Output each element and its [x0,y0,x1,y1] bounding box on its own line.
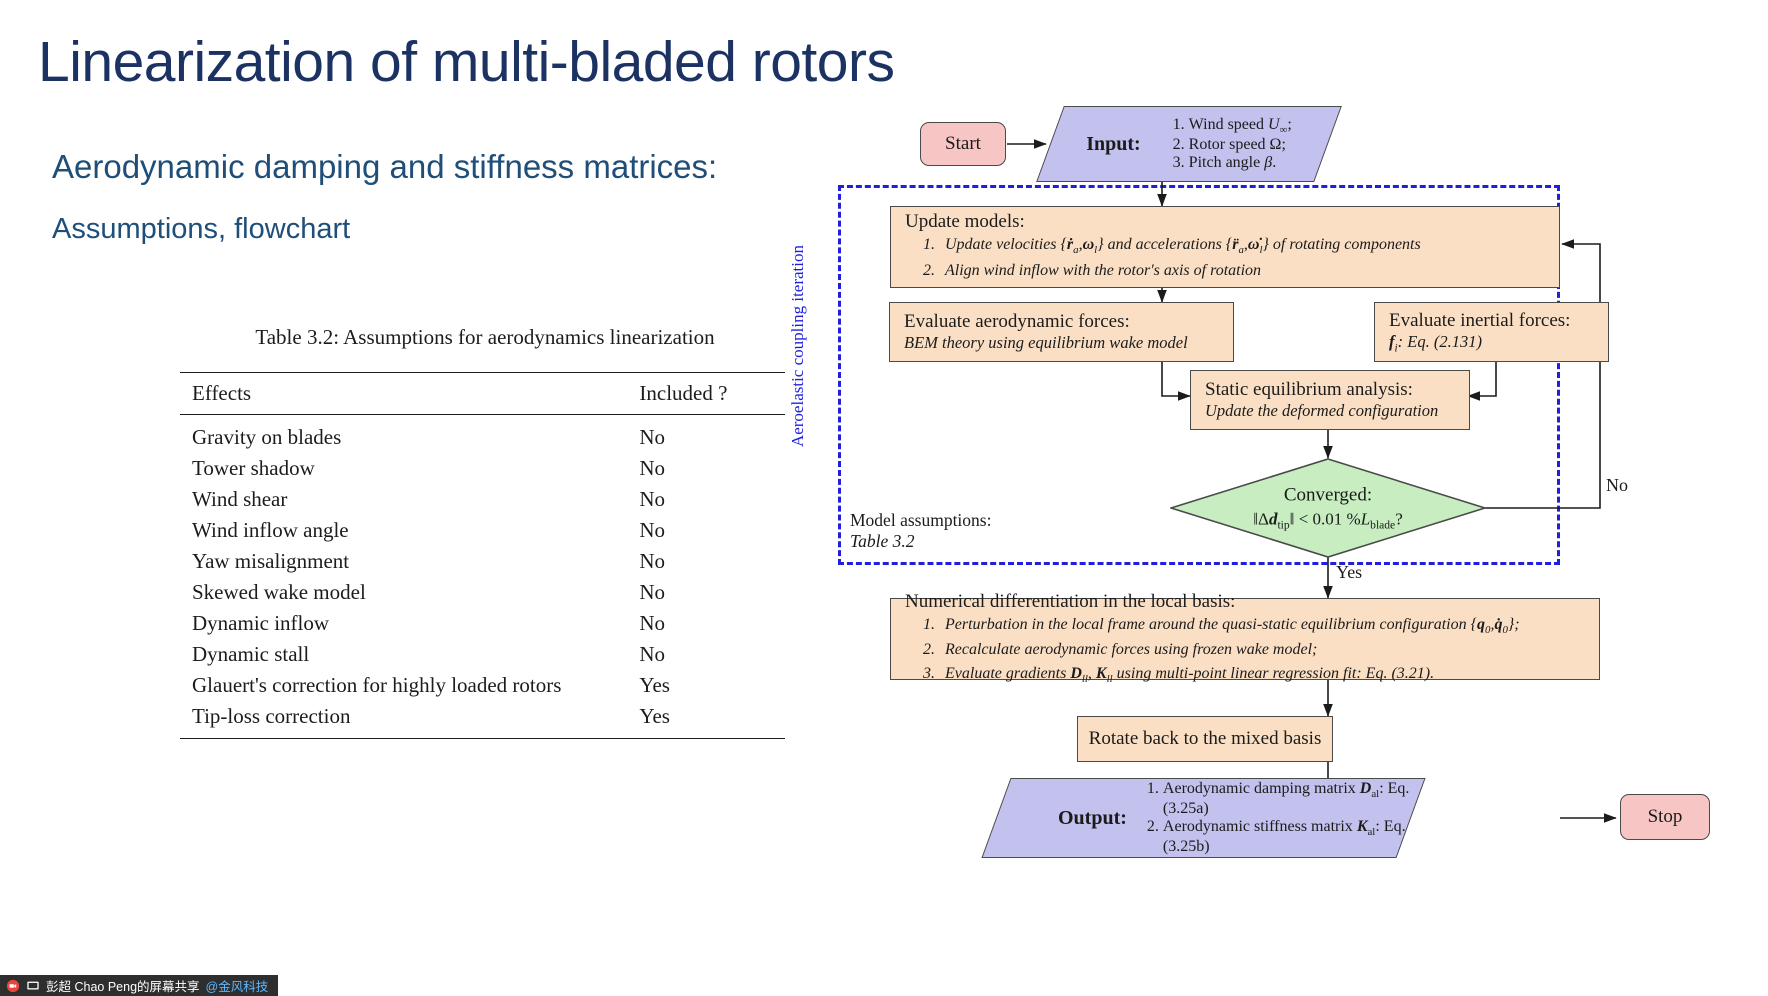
share-mention: @金风科技 [206,976,269,995]
cell-effect: Dynamic stall [180,639,627,670]
node-converged-text: Converged: ‖Δdtip‖ < 0.01 %Lblade? [1170,484,1486,531]
table-row: Glauert's correction for highly loaded r… [180,670,785,701]
node-numerical-differentiation[interactable]: Numerical differentiation in the local b… [890,598,1600,680]
node-static-equilibrium[interactable]: Static equilibrium analysis: Update the … [1190,370,1470,430]
node-rotate-back-label: Rotate back to the mixed basis [1075,728,1336,750]
cell-included: No [627,608,785,639]
node-inertial-forces-detail: fi: Eq. (2.131) [1375,332,1608,354]
table-row: Dynamic inflow No [180,608,785,639]
share-text: 彭超 Chao Peng的屏幕共享 [46,976,200,995]
node-aerodynamic-forces-detail: BEM theory using equilibrium wake model [890,333,1233,353]
cell-included: No [627,484,785,515]
list-item: Rotor speed Ω; [1189,136,1292,154]
edge-label-yes: Yes [1336,562,1362,583]
list-item: Pitch angle β. [1189,154,1292,172]
node-start-label: Start [931,133,995,155]
status-bar: 彭超 Chao Peng的屏幕共享 @金风科技 [0,975,1768,996]
node-converged-criterion: ‖Δdtip‖ < 0.01 %Lblade? [1170,509,1486,531]
cell-included: No [627,639,785,670]
node-inertial-forces[interactable]: Evaluate inertial forces: fi: Eq. (2.131… [1374,302,1609,362]
table-body: Gravity on blades No Tower shadow No Win… [180,415,785,739]
cell-effect: Yaw misalignment [180,546,627,577]
node-stop[interactable]: Stop [1620,794,1710,840]
subtitle-primary: Aerodynamic damping and stiffness matric… [52,148,717,186]
node-stop-label: Stop [1634,806,1697,828]
cell-effect: Wind inflow angle [180,515,627,546]
table-row: Dynamic stall No [180,639,785,670]
cell-effect: Wind shear [180,484,627,515]
table-row: Tower shadow No [180,453,785,484]
linearization-flowchart: Aeroelastic coupling iteration [900,100,1760,940]
table-row: Wind inflow angle No [180,515,785,546]
node-input-list: Wind speed U∞; Rotor speed Ω; Pitch angl… [1155,116,1292,172]
list-item: Aerodynamic stiffness matrix Kal: Eq. (3… [1163,818,1411,856]
cell-included: No [627,577,785,608]
node-inertial-forces-header: Evaluate inertial forces: [1375,310,1608,332]
list-item: Update velocities {ṙa,ωl} and accelerati… [939,233,1545,259]
node-rotate-back[interactable]: Rotate back to the mixed basis [1077,716,1333,762]
node-static-equilibrium-header: Static equilibrium analysis: [1191,379,1469,401]
model-assumptions-note: Model assumptions: Table 3.2 [850,510,991,552]
node-update-models-header: Update models: [891,211,1559,233]
node-converged-decision[interactable]: Converged: ‖Δdtip‖ < 0.01 %Lblade? [1170,458,1486,558]
table-row: Tip-loss correction Yes [180,701,785,739]
table-caption: Table 3.2: Assumptions for aerodynamics … [180,325,790,350]
column-header-effects: Effects [180,373,627,415]
table-row: Wind shear No [180,484,785,515]
assumptions-table-block: Table 3.2: Assumptions for aerodynamics … [180,325,790,739]
model-assumptions-detail: Table 3.2 [850,531,991,552]
cell-included: No [627,515,785,546]
cell-effect: Skewed wake model [180,577,627,608]
node-input-label: Input: [1086,133,1140,156]
cell-included: No [627,453,785,484]
cell-effect: Tip-loss correction [180,701,627,739]
cell-effect: Gravity on blades [180,415,627,454]
cell-effect: Tower shadow [180,453,627,484]
cell-effect: Glauert's correction for highly loaded r… [180,670,627,701]
node-start[interactable]: Start [920,122,1006,166]
screen-share-icon [26,979,40,993]
node-converged-header: Converged: [1170,484,1486,506]
table-row: Yaw misalignment No [180,546,785,577]
cell-included: No [627,546,785,577]
node-numerical-differentiation-header: Numerical differentiation in the local b… [891,591,1599,613]
node-output-list: Aerodynamic damping matrix Dal: Eq. (3.2… [1141,780,1411,856]
node-output[interactable]: Output: Aerodynamic damping matrix Dal: … [996,778,1411,858]
list-item: Recalculate aerodynamic forces using fro… [939,638,1585,662]
cell-included: No [627,415,785,454]
node-output-label: Output: [1058,807,1127,830]
cell-included: Yes [627,670,785,701]
table-header: Effects Included ? [180,373,785,415]
presentation-slide: Linearization of multi-bladed rotors Aer… [0,0,1768,975]
table-row: Gravity on blades No [180,415,785,454]
list-item: Evaluate gradients Dll, Kll using multi-… [939,662,1585,688]
node-static-equilibrium-detail: Update the deformed configuration [1191,401,1469,421]
cell-included: Yes [627,701,785,739]
node-aerodynamic-forces-header: Evaluate aerodynamic forces: [890,311,1233,333]
cell-effect: Dynamic inflow [180,608,627,639]
list-item: Aerodynamic damping matrix Dal: Eq. (3.2… [1163,780,1411,818]
node-numerical-differentiation-list: Perturbation in the local frame around t… [891,613,1599,688]
node-input[interactable]: Input: Wind speed U∞; Rotor speed Ω; Pit… [1050,106,1328,182]
zoom-logo-icon [6,979,20,993]
page-title: Linearization of multi-bladed rotors [38,33,894,93]
aeroelastic-loop-label: Aeroelastic coupling iteration [788,245,808,447]
node-update-models-list: Update velocities {ṙa,ωl} and accelerati… [891,233,1559,283]
edge-label-no: No [1606,475,1628,496]
subtitle-secondary: Assumptions, flowchart [52,213,350,246]
list-item: Perturbation in the local frame around t… [939,613,1585,639]
list-item: Wind speed U∞; [1189,116,1292,136]
column-header-included: Included ? [627,373,785,415]
table-row: Skewed wake model No [180,577,785,608]
node-update-models[interactable]: Update models: Update velocities {ṙa,ωl}… [890,206,1560,288]
assumptions-table: Effects Included ? Gravity on blades No … [180,372,785,739]
list-item: Align wind inflow with the rotor's axis … [939,259,1545,283]
model-assumptions-header: Model assumptions: [850,510,991,530]
node-aerodynamic-forces[interactable]: Evaluate aerodynamic forces: BEM theory … [889,302,1234,362]
screen-share-indicator[interactable]: 彭超 Chao Peng的屏幕共享 @金风科技 [0,975,278,996]
table-header-row: Effects Included ? [180,373,785,415]
